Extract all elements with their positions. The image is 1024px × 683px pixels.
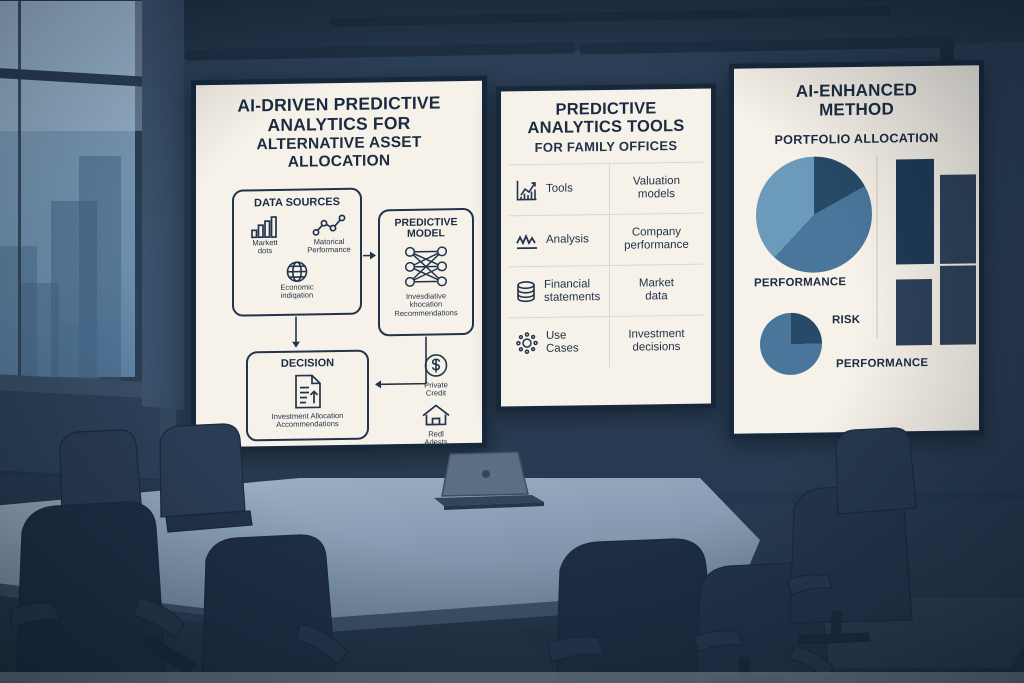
table-row[interactable]: Financial statements Market data — [509, 264, 703, 318]
chairs-group — [0, 400, 1024, 683]
data-source-caption: indiqation — [281, 292, 314, 301]
allocation-bar — [940, 265, 976, 345]
globe-icon — [285, 259, 309, 283]
chair-center-right — [548, 539, 718, 683]
chair-back-right — [836, 428, 916, 514]
poster1-title-line2: ANALYTICS FOR — [206, 113, 472, 137]
value-line: Market — [614, 276, 699, 291]
growth-chart-icon — [515, 178, 539, 202]
line-chart-icon — [312, 214, 346, 239]
window-glass — [0, 0, 142, 384]
poster3-title-line2: METHOD — [744, 98, 969, 120]
label-performance-bottom: PERFORMANCE — [836, 357, 928, 370]
data-source-item: Economic indiqation — [269, 259, 325, 301]
table-cell-value: Market data — [610, 270, 703, 310]
data-source-item: Markett dots — [237, 215, 293, 257]
tool-label: Use — [546, 329, 579, 343]
table-row[interactable]: Tools Valuation models — [509, 162, 703, 216]
sky — [0, 1, 149, 131]
data-sources-header: DATA SOURCES — [254, 197, 340, 210]
diagram-box-predictive-model[interactable]: PREDICTIVE MODEL Invesdiative khocation … — [378, 208, 474, 337]
value-line: decisions — [614, 341, 699, 356]
boardroom-scene: AI-DRIVEN PREDICTIVE ANALYTICS FOR ALTER… — [0, 0, 1024, 683]
window-mullion — [18, 1, 21, 391]
label-risk: RISK — [832, 314, 860, 326]
tool-label: Financial — [544, 278, 600, 292]
table-row[interactable]: Use Cases Investment decisions — [509, 315, 703, 369]
poster3-charts: PERFORMANCE RISK PERFORMANCE — [744, 152, 969, 395]
value-line: data — [614, 290, 699, 305]
poster1-title-line3: ALTERNATIVE ASSET ALLOCATION — [206, 133, 472, 172]
tool-label: Tools — [546, 183, 573, 197]
table-cell-value: Investment decisions — [610, 321, 703, 361]
mountain-wave-icon — [515, 229, 539, 253]
side-icon-caption: Credit — [426, 390, 446, 399]
tools-table: Tools Valuation models — [509, 162, 703, 369]
poster-ai-driven-predictive-analytics[interactable]: AI-DRIVEN PREDICTIVE ANALYTICS FOR ALTER… — [191, 76, 487, 453]
chart-divider — [876, 156, 878, 338]
value-line: models — [614, 188, 699, 203]
predictive-model-caption: Recommendations — [394, 309, 457, 318]
value-line: Investment — [614, 327, 699, 342]
window-jamb — [142, 0, 184, 410]
database-icon — [515, 280, 537, 304]
table-cell-tool: Financial statements — [509, 266, 610, 317]
poster3-subtitle: PORTFOLIO ALLOCATION — [744, 130, 969, 147]
allocation-bar — [940, 174, 976, 264]
value-line: Valuation — [614, 174, 699, 189]
data-source-caption: Performance — [307, 246, 350, 255]
decision-header: DECISION — [281, 358, 334, 371]
tool-label: Analysis — [546, 234, 589, 248]
baseboard — [0, 672, 1024, 683]
tool-label-group: Tools — [546, 183, 573, 197]
poster-predictive-analytics-tools[interactable]: PREDICTIVE ANALYTICS TOOLS FOR FAMILY OF… — [496, 83, 716, 411]
portfolio-allocation-pie — [756, 156, 872, 274]
value-line: Company — [614, 225, 699, 240]
label-performance-top: PERFORMANCE — [754, 276, 846, 289]
allocation-bar — [896, 279, 932, 346]
tool-label: Cases — [546, 342, 579, 356]
table-row[interactable]: Analysis Company performance — [509, 213, 703, 267]
table-cell-tool: Tools — [509, 164, 610, 215]
value-line: performance — [614, 239, 699, 254]
tool-label: statements — [544, 291, 600, 305]
table-cell-tool: Use Cases — [509, 317, 610, 368]
predictive-model-header-line2: MODEL — [407, 229, 445, 241]
bar-chart-icon — [250, 215, 280, 239]
tool-label-group: Financial statements — [544, 278, 600, 305]
data-source-item: Matorical Performance — [301, 213, 357, 255]
data-source-caption: dots — [258, 247, 272, 256]
table-cell-tool: Analysis — [509, 215, 610, 266]
chair-center-left — [202, 535, 348, 683]
diagram-box-data-sources[interactable]: DATA SOURCES Markett dots — [232, 188, 362, 317]
neural-network-icon — [400, 243, 452, 290]
dollar-circle-icon — [423, 352, 449, 378]
poster2-subtitle: FOR FAMILY OFFICES — [509, 138, 703, 156]
table-cell-value: Company performance — [610, 219, 703, 259]
chair-back-left-2 — [160, 424, 252, 532]
table-cell-value: Valuation models — [610, 168, 703, 208]
side-icon-private-credit: Private Credit — [408, 352, 464, 399]
risk-pie — [760, 313, 822, 376]
city-skyline-window — [0, 0, 176, 464]
allocation-bar — [896, 159, 934, 265]
poster-ai-enhanced-method[interactable]: AI-ENHANCED METHOD PORTFOLIO ALLOCATION … — [729, 60, 984, 439]
tool-label-group: Analysis — [546, 234, 589, 248]
poster2-title-line2: ANALYTICS TOOLS — [509, 117, 703, 138]
tool-label-group: Use Cases — [546, 329, 579, 356]
gear-dots-icon — [515, 331, 539, 355]
